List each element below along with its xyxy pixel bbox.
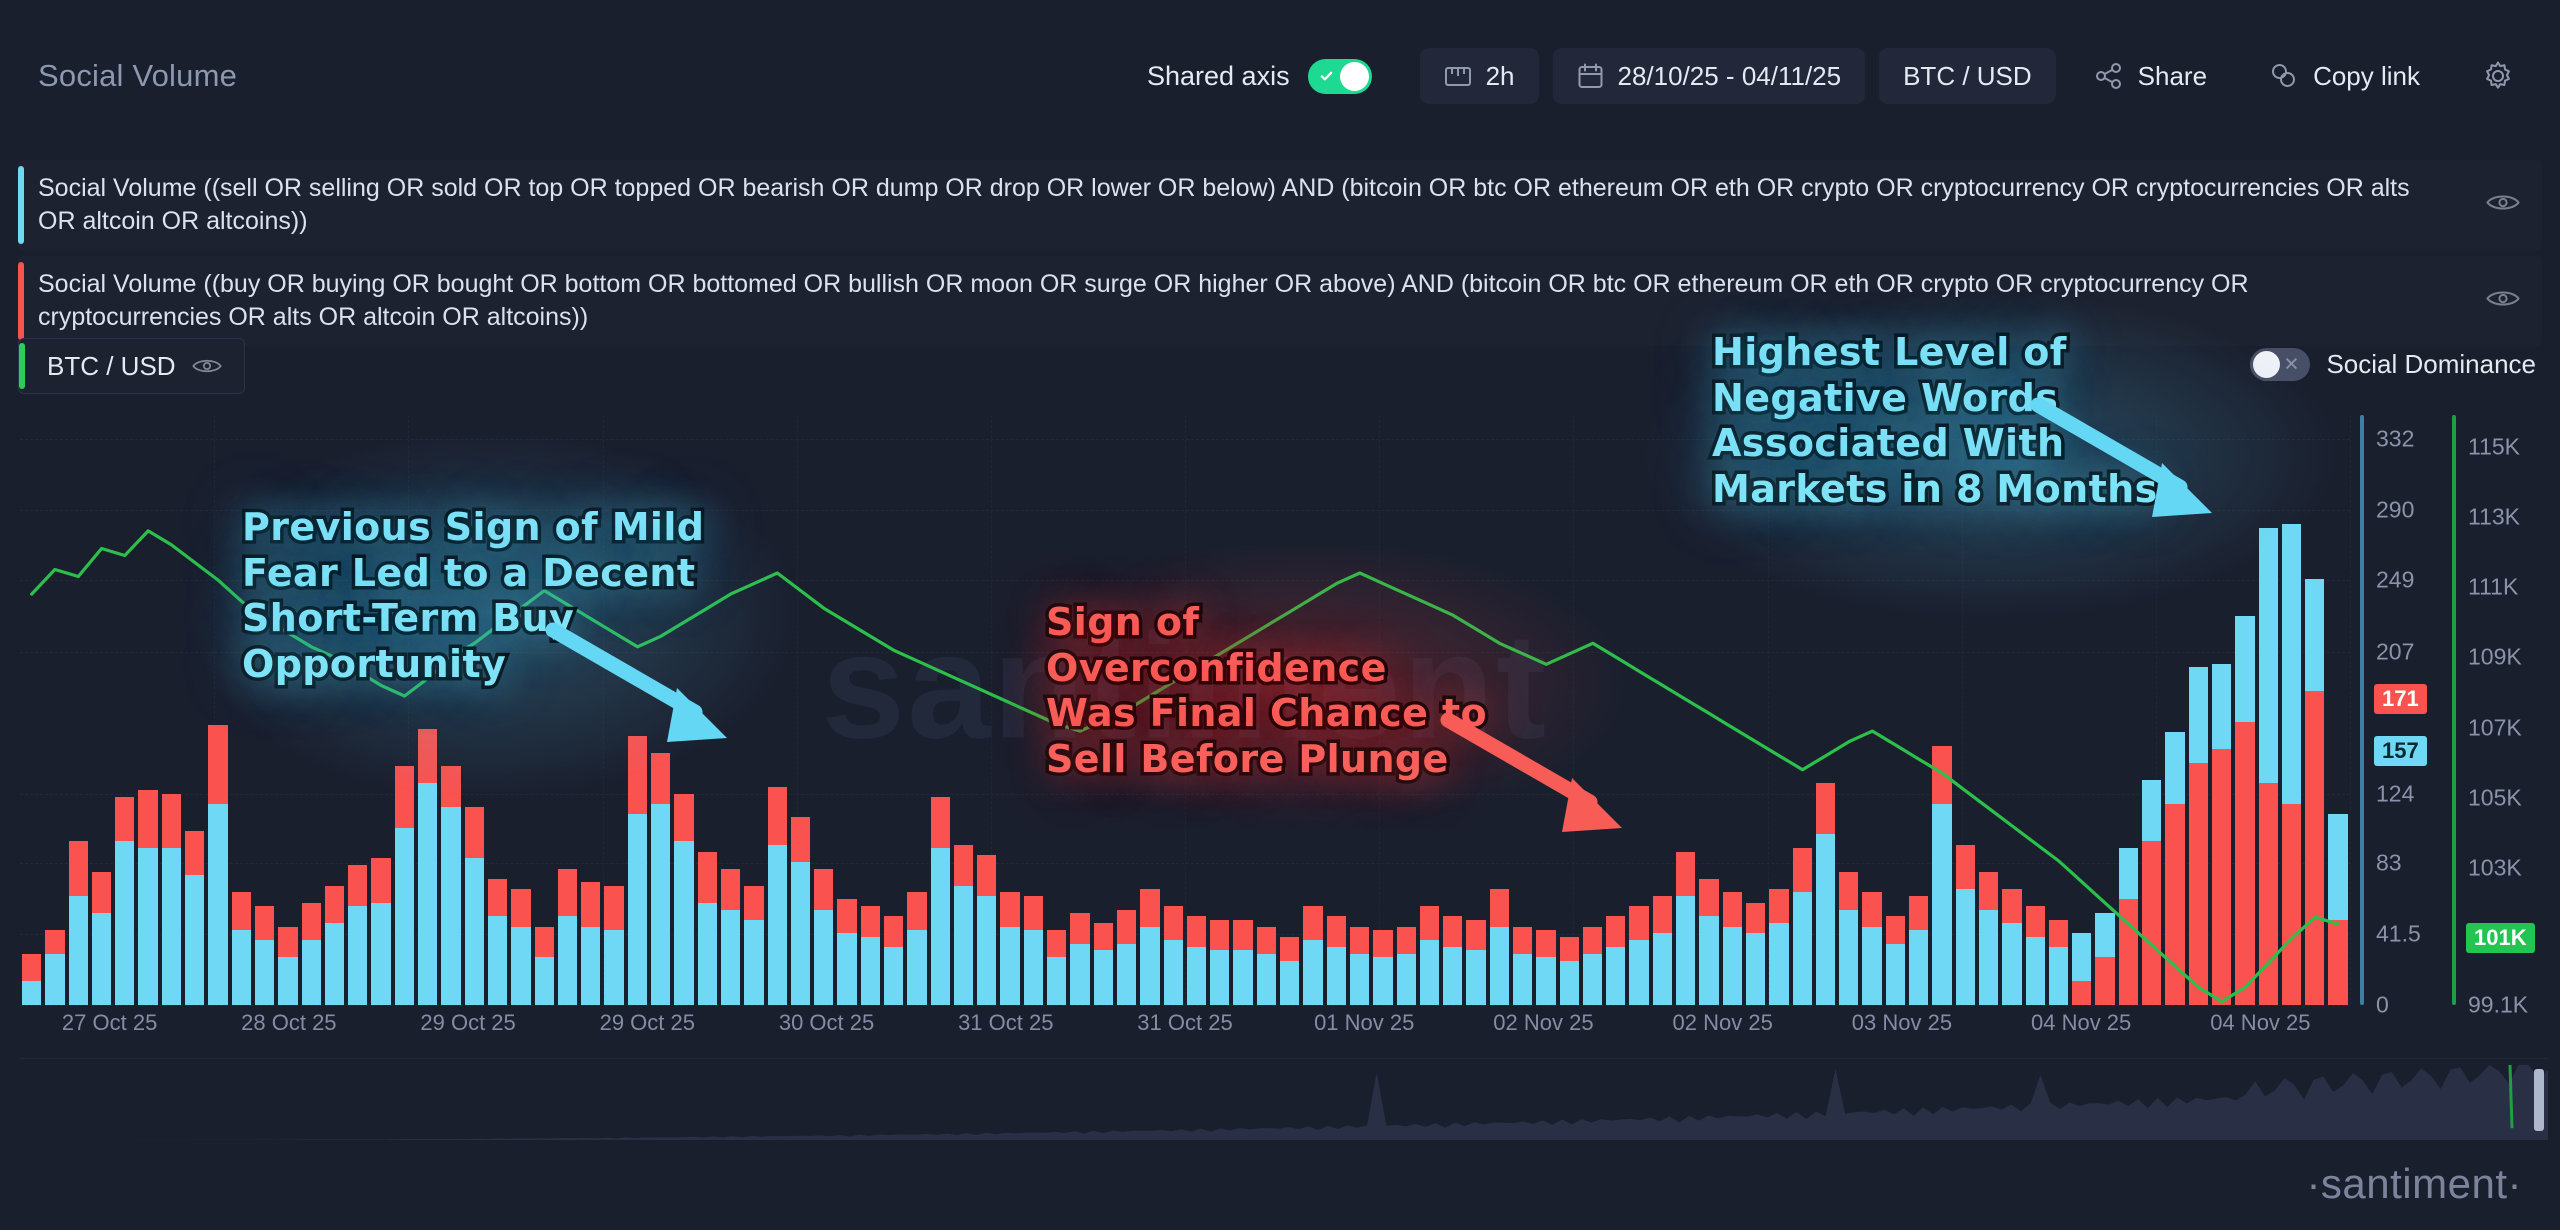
bar-column[interactable] <box>463 415 486 1005</box>
bar-column[interactable] <box>136 415 159 1005</box>
bar-column[interactable] <box>323 415 346 1005</box>
interval-button[interactable]: 2h <box>1420 48 1539 104</box>
axis-tick-label: 105K <box>2468 784 2522 811</box>
bar-segment-bullish <box>1466 920 1485 951</box>
bar-segment-bearish <box>2165 732 2184 804</box>
asset-visibility-icon[interactable] <box>192 355 222 377</box>
bar-segment-bearish <box>837 933 856 1005</box>
visibility-toggle-icon[interactable] <box>2486 287 2520 316</box>
bar-column[interactable] <box>439 415 462 1005</box>
bar-segment-bearish <box>1909 930 1928 1005</box>
bar-column[interactable] <box>2070 415 2093 1005</box>
bar-segment-bullish <box>2165 804 2184 1005</box>
bar-segment-bullish <box>1070 913 1089 944</box>
bar-segment-bearish <box>791 862 810 1005</box>
bar-column[interactable] <box>1511 415 1534 1005</box>
bar-segment-bullish <box>1583 927 1602 954</box>
bar-column[interactable] <box>672 415 695 1005</box>
bar-segment-bullish <box>2259 783 2278 1005</box>
bar-segment-bullish <box>1233 920 1252 951</box>
bar-segment-bullish <box>2049 920 2068 947</box>
bar-segment-bullish <box>814 869 833 910</box>
axis-tick-label: 0 <box>2376 992 2389 1019</box>
bar-segment-bearish <box>1956 889 1975 1005</box>
bar-segment-bullish <box>2095 957 2114 1005</box>
toolbar-controls: Shared axis 2h <box>1147 48 2538 104</box>
bar-segment-bearish <box>768 845 787 1005</box>
legend-row-bullish[interactable]: Social Volume ((buy OR buying OR bought … <box>18 256 2542 346</box>
bar-segment-bullish <box>395 766 414 827</box>
asset-selector-label: BTC / USD <box>1903 61 2032 92</box>
bar-segment-bearish <box>604 930 623 1005</box>
bar-segment-bullish <box>1420 906 1439 940</box>
bar-segment-bearish <box>931 848 950 1005</box>
bar-segment-bearish <box>977 896 996 1005</box>
bar-segment-bearish <box>1699 916 1718 1005</box>
bar-column[interactable] <box>1581 415 1604 1005</box>
bar-column[interactable] <box>696 415 719 1005</box>
bar-segment-bearish <box>1117 944 1136 1005</box>
page-title: Social Volume <box>38 58 237 94</box>
bar-column[interactable] <box>1534 415 1557 1005</box>
social-dominance-control[interactable]: ✕ Social Dominance <box>2250 348 2536 381</box>
bar-segment-bullish <box>1932 746 1951 804</box>
bar-segment-bullish <box>931 797 950 848</box>
bar-segment-bearish <box>535 957 554 1005</box>
toggle-knob <box>2253 351 2280 378</box>
bar-segment-bearish <box>1070 944 1089 1005</box>
bar-segment-bearish <box>1723 927 1742 1005</box>
btc-price-axis: 115K113K111K109K107K105K103K99.1K101K <box>2452 415 2556 1005</box>
bar-segment-bearish <box>2072 933 2091 981</box>
bar-column[interactable] <box>1488 415 1511 1005</box>
bar-segment-bullish <box>1187 916 1206 947</box>
bar-segment-bearish <box>2095 913 2114 957</box>
bar-segment-bullish <box>2002 889 2021 923</box>
bar-segment-bearish <box>2282 524 2301 804</box>
bar-segment-bullish <box>1653 896 1672 934</box>
gear-icon <box>2482 60 2514 92</box>
bar-segment-bearish <box>2142 780 2161 841</box>
bar-column[interactable] <box>2187 415 2210 1005</box>
bar-column[interactable] <box>1231 415 1254 1005</box>
bar-column[interactable] <box>206 415 229 1005</box>
bar-column[interactable] <box>20 415 43 1005</box>
bar-segment-bullish <box>1746 903 1765 934</box>
bar-segment-bearish <box>232 930 251 1005</box>
bar-segment-bullish <box>162 794 181 849</box>
bar-column[interactable] <box>626 415 649 1005</box>
bar-segment-bullish <box>1373 930 1392 957</box>
bar-segment-bullish <box>744 886 763 920</box>
bar-column[interactable] <box>1441 415 1464 1005</box>
bar-segment-bearish <box>1420 940 1439 1005</box>
bar-segment-bearish <box>162 848 181 1005</box>
bar-segment-bearish <box>1140 927 1159 1005</box>
bar-segment-bearish <box>1373 957 1392 1005</box>
bar-segment-bearish <box>581 927 600 1005</box>
x-axis-tick-label: 31 Oct 25 <box>1137 1010 1232 1036</box>
bar-column[interactable] <box>230 415 253 1005</box>
bar-column[interactable] <box>160 415 183 1005</box>
bar-segment-bullish <box>1909 896 1928 930</box>
bar-segment-bullish <box>1280 937 1299 961</box>
bar-column[interactable] <box>882 415 905 1005</box>
bar-column[interactable] <box>1954 415 1977 1005</box>
x-axis-tick-label: 04 Nov 25 <box>2031 1010 2131 1036</box>
legend-row-bearish[interactable]: Social Volume ((sell OR selling OR sold … <box>18 160 2542 250</box>
x-axis-tick-label: 04 Nov 25 <box>2210 1010 2310 1036</box>
axis-tick-label: 249 <box>2376 567 2414 594</box>
settings-button[interactable] <box>2458 48 2538 104</box>
bar-segment-bearish <box>1886 944 1905 1005</box>
bar-column[interactable] <box>113 415 136 1005</box>
x-axis-tick-label: 29 Oct 25 <box>600 1010 695 1036</box>
brush-overview-chart <box>20 1059 2548 1140</box>
legend-label: Social Volume ((buy OR buying OR bought … <box>38 268 2478 334</box>
bar-segment-bearish <box>1536 957 1555 1005</box>
bar-segment-bullish <box>138 790 157 848</box>
x-axis-tick-label: 27 Oct 25 <box>62 1010 157 1036</box>
bar-segment-bullish <box>2072 981 2091 1005</box>
top-toolbar: Social Volume Shared axis <box>0 0 2560 140</box>
bar-column[interactable] <box>998 415 1021 1005</box>
bar-column[interactable] <box>1814 415 1837 1005</box>
bar-column[interactable] <box>1930 415 1953 1005</box>
x-axis-tick-label: 02 Nov 25 <box>1493 1010 1593 1036</box>
bar-segment-bullish <box>558 869 577 917</box>
social-volume-axis: 3322902492071248341.50171157 <box>2360 415 2450 1005</box>
bar-column[interactable] <box>812 415 835 1005</box>
axis-tick-label: 111K <box>2468 574 2518 601</box>
timeline-brush[interactable] <box>20 1058 2548 1140</box>
bar-segment-bearish <box>698 903 717 1005</box>
bar-column[interactable] <box>1860 415 1883 1005</box>
bar-segment-bearish <box>1350 954 1369 1005</box>
bar-column[interactable] <box>2047 415 2070 1005</box>
bar-segment-bullish <box>1793 848 1812 892</box>
bar-column[interactable] <box>1744 415 1767 1005</box>
bar-column[interactable] <box>1721 415 1744 1005</box>
bar-segment-bullish <box>2026 906 2045 937</box>
bar-column[interactable] <box>556 415 579 1005</box>
bar-column[interactable] <box>1162 415 1185 1005</box>
share-button[interactable]: Share <box>2070 48 2231 104</box>
bar-segment-bearish <box>69 896 88 1005</box>
copy-link-label: Copy link <box>2313 61 2420 92</box>
bar-column[interactable] <box>509 415 532 1005</box>
x-axis-tick-label: 31 Oct 25 <box>958 1010 1053 1036</box>
bar-segment-bearish <box>45 954 64 1005</box>
bar-segment-bearish <box>1746 933 1765 1005</box>
bar-column[interactable] <box>300 415 323 1005</box>
bar-column[interactable] <box>1092 415 1115 1005</box>
bar-segment-bearish <box>465 858 484 1005</box>
date-range-label: 28/10/25 - 04/11/25 <box>1618 61 1842 92</box>
santiment-logo: ·santiment· <box>2306 1160 2522 1208</box>
bar-segment-bearish <box>2259 528 2278 784</box>
bar-segment-bullish <box>1629 906 1648 940</box>
bar-segment-bearish <box>721 910 740 1005</box>
bar-segment-bullish <box>255 906 274 940</box>
bar-column[interactable] <box>1651 415 1674 1005</box>
axis-tick-label: 124 <box>2376 780 2414 807</box>
social-dominance-toggle[interactable]: ✕ <box>2250 348 2310 381</box>
bar-segment-bullish <box>92 872 111 913</box>
bar-segment-bullish <box>2282 804 2301 1005</box>
bar-segment-bearish <box>744 920 763 1005</box>
gridline <box>20 1005 2350 1006</box>
bar-column[interactable] <box>1907 415 1930 1005</box>
bar-column[interactable] <box>1068 415 1091 1005</box>
bar-segment-bullish <box>302 903 321 941</box>
bar-segment-bearish <box>2049 947 2068 1005</box>
bar-segment-bullish <box>977 855 996 896</box>
bar-column[interactable] <box>766 415 789 1005</box>
copy-link-button[interactable]: Copy link <box>2245 48 2444 104</box>
bar-segment-bullish <box>1490 889 1509 927</box>
bar-segment-bearish <box>302 940 321 1005</box>
bar-column[interactable] <box>2233 415 2256 1005</box>
bar-column[interactable] <box>1697 415 1720 1005</box>
bar-segment-bearish <box>488 916 507 1005</box>
bar-segment-bullish <box>2142 841 2161 1005</box>
bar-column[interactable] <box>929 415 952 1005</box>
bar-column[interactable] <box>1022 415 1045 1005</box>
axis-tick-label: 113K <box>2468 503 2520 530</box>
bar-segment-bullish <box>1606 916 1625 947</box>
bar-column[interactable] <box>952 415 975 1005</box>
bar-segment-bearish <box>185 875 204 1005</box>
bar-column[interactable] <box>859 415 882 1005</box>
bar-column[interactable] <box>1837 415 1860 1005</box>
bar-column[interactable] <box>2024 415 2047 1005</box>
bar-segment-bearish <box>371 903 390 1005</box>
calendar-icon <box>1577 62 1604 90</box>
bar-segment-bullish <box>22 954 41 981</box>
bar-segment-bullish <box>278 927 297 958</box>
bar-segment-bearish <box>255 940 274 1005</box>
bar-segment-bullish <box>535 927 554 958</box>
bar-column[interactable] <box>742 415 765 1005</box>
bar-column[interactable] <box>2280 415 2303 1005</box>
bar-column[interactable] <box>1395 415 1418 1005</box>
bar-column[interactable] <box>533 415 556 1005</box>
bar-column[interactable] <box>1674 415 1697 1005</box>
bar-segment-bullish <box>651 753 670 804</box>
bar-column[interactable] <box>486 415 509 1005</box>
bar-segment-bearish <box>651 804 670 1005</box>
bar-column[interactable] <box>276 415 299 1005</box>
bar-column[interactable] <box>416 415 439 1005</box>
bar-column[interactable] <box>67 415 90 1005</box>
legend-color-swatch <box>18 166 24 244</box>
bar-column[interactable] <box>1371 415 1394 1005</box>
bar-column[interactable] <box>43 415 66 1005</box>
axis-tick-label: 109K <box>2468 644 2522 671</box>
bar-segment-bullish <box>232 892 251 930</box>
bar-column[interactable] <box>2303 415 2326 1005</box>
bar-segment-bearish <box>1793 892 1812 1005</box>
bar-segment-bullish <box>1397 927 1416 954</box>
bar-column[interactable] <box>2093 415 2116 1005</box>
bar-segment-bullish <box>441 766 460 807</box>
bar-segment-bullish <box>1839 872 1858 910</box>
bar-column[interactable] <box>1977 415 2000 1005</box>
x-axis-tick-label: 28 Oct 25 <box>241 1010 336 1036</box>
bar-column[interactable] <box>1301 415 1324 1005</box>
link-icon <box>2269 62 2299 90</box>
bar-segment-bullish <box>1117 910 1136 944</box>
bar-column[interactable] <box>1767 415 1790 1005</box>
bar-segment-bullish <box>2235 722 2254 1005</box>
bar-segment-bearish <box>1629 940 1648 1005</box>
legend-label: Social Volume ((sell OR selling OR sold … <box>38 172 2478 238</box>
bar-column[interactable] <box>1464 415 1487 1005</box>
bar-column[interactable] <box>1558 415 1581 1005</box>
bar-segment-bearish <box>1816 834 1835 1005</box>
bar-segment-bearish <box>348 906 367 1005</box>
bar-column[interactable] <box>1115 415 1138 1005</box>
bar-segment-bearish <box>1303 940 1322 1005</box>
bar-column[interactable] <box>2140 415 2163 1005</box>
bar-segment-bullish <box>2189 763 2208 1005</box>
bar-segment-bullish <box>907 892 926 930</box>
bar-column[interactable] <box>1604 415 1627 1005</box>
bar-segment-bearish <box>278 957 297 1005</box>
bar-column[interactable] <box>2000 415 2023 1005</box>
current-price-badge: 101K <box>2466 923 2535 953</box>
share-label: Share <box>2138 61 2207 92</box>
bar-segment-bearish <box>1769 923 1788 1005</box>
bar-segment-bullish <box>1979 872 1998 910</box>
bar-segment-bearish <box>1000 927 1019 1005</box>
bar-column[interactable] <box>346 415 369 1005</box>
bar-column[interactable] <box>1185 415 1208 1005</box>
bar-segment-bullish <box>511 889 530 927</box>
bar-column[interactable] <box>602 415 625 1005</box>
x-axis-tick-label: 30 Oct 25 <box>779 1010 874 1036</box>
date-range-button[interactable]: 28/10/25 - 04/11/25 <box>1553 48 1866 104</box>
interval-label: 2h <box>1486 61 1515 92</box>
bar-column[interactable] <box>789 415 812 1005</box>
axis-tick-label: 99.1K <box>2468 992 2528 1019</box>
bar-column[interactable] <box>2163 415 2186 1005</box>
chart-plot-area[interactable]: santiment <box>20 415 2350 1005</box>
axis-tick-label: 290 <box>2376 497 2414 524</box>
bar-segment-bearish <box>1233 950 1252 1005</box>
bar-column[interactable] <box>1138 415 1161 1005</box>
bar-column[interactable] <box>369 415 392 1005</box>
bar-column[interactable] <box>1045 415 1068 1005</box>
brush-right-handle[interactable] <box>2534 1069 2544 1131</box>
bar-column[interactable] <box>1627 415 1650 1005</box>
shared-axis-label: Shared axis <box>1147 61 1290 92</box>
bar-segment-bearish <box>1466 950 1485 1005</box>
bar-column[interactable] <box>649 415 672 1005</box>
bar-segment-bullish <box>604 886 623 930</box>
bar-column[interactable] <box>393 415 416 1005</box>
bar-segment-bearish <box>628 814 647 1005</box>
bar-segment-bullish <box>674 794 693 842</box>
bar-column[interactable] <box>2117 415 2140 1005</box>
bar-segment-bullish <box>1164 906 1183 940</box>
bar-segment-bearish <box>1210 950 1229 1005</box>
bar-column[interactable] <box>975 415 998 1005</box>
bar-segment-bullish <box>1560 937 1579 961</box>
bar-column[interactable] <box>1884 415 1907 1005</box>
bar-column[interactable] <box>253 415 276 1005</box>
bar-column[interactable] <box>579 415 602 1005</box>
bar-column[interactable] <box>1418 415 1441 1005</box>
bar-column[interactable] <box>1278 415 1301 1005</box>
bar-column[interactable] <box>1791 415 1814 1005</box>
bar-column[interactable] <box>905 415 928 1005</box>
bar-segment-bearish <box>2212 664 2231 749</box>
bar-segment-bullish <box>1723 892 1742 926</box>
bar-segment-bullish <box>1257 927 1276 954</box>
bar-segment-bearish <box>2235 616 2254 722</box>
bar-segment-bullish <box>1024 896 1043 930</box>
bar-segment-bearish <box>1094 950 1113 1005</box>
bar-segment-bullish <box>185 831 204 875</box>
asset-chip-btc-usd[interactable]: BTC / USD <box>18 338 245 394</box>
axis-tick-label: 83 <box>2376 850 2402 877</box>
bar-column[interactable] <box>90 415 113 1005</box>
bar-column[interactable] <box>1325 415 1348 1005</box>
x-axis-tick-label: 02 Nov 25 <box>1673 1010 1773 1036</box>
bar-segment-bullish <box>1956 845 1975 889</box>
bar-segment-bullish <box>208 725 227 803</box>
bar-column[interactable] <box>2210 415 2233 1005</box>
bar-segment-bearish <box>1280 961 1299 1005</box>
x-axis-tick-label: 03 Nov 25 <box>1852 1010 1952 1036</box>
bar-segment-bullish <box>418 729 437 784</box>
bar-segment-bearish <box>2026 937 2045 1005</box>
axis-spine <box>2360 415 2364 1005</box>
shared-axis-toggle[interactable] <box>1308 59 1372 94</box>
shared-axis-control[interactable]: Shared axis <box>1147 59 1372 94</box>
bar-segment-bullish <box>1676 852 1695 896</box>
bar-column[interactable] <box>835 415 858 1005</box>
axis-tick-label: 332 <box>2376 425 2414 452</box>
bar-column[interactable] <box>2326 415 2349 1005</box>
share-nodes-icon <box>2094 62 2124 90</box>
x-axis-tick-label: 01 Nov 25 <box>1314 1010 1414 1036</box>
bar-column[interactable] <box>183 415 206 1005</box>
gridline-vertical <box>2350 415 2351 1005</box>
bar-segment-bullish <box>2328 920 2347 1005</box>
axis-spine <box>2452 415 2456 1005</box>
bar-segment-bearish <box>1327 947 1346 1005</box>
legend-color-swatch <box>18 262 24 340</box>
bar-series-container <box>20 415 2350 1005</box>
bar-segment-bearish <box>2328 814 2347 920</box>
bar-column[interactable] <box>1208 415 1231 1005</box>
current-value-badge: 171 <box>2374 684 2427 714</box>
bar-column[interactable] <box>719 415 742 1005</box>
bar-column[interactable] <box>1255 415 1278 1005</box>
bar-column[interactable] <box>2257 415 2280 1005</box>
bar-column[interactable] <box>1348 415 1371 1005</box>
bar-segment-bearish <box>861 937 880 1005</box>
bar-segment-bullish <box>861 906 880 937</box>
close-icon: ✕ <box>2284 355 2300 374</box>
bar-segment-bullish <box>2212 749 2231 1005</box>
visibility-toggle-icon[interactable] <box>2486 191 2520 220</box>
asset-selector-button[interactable]: BTC / USD <box>1879 48 2056 104</box>
bar-segment-bullish <box>2119 899 2138 1005</box>
